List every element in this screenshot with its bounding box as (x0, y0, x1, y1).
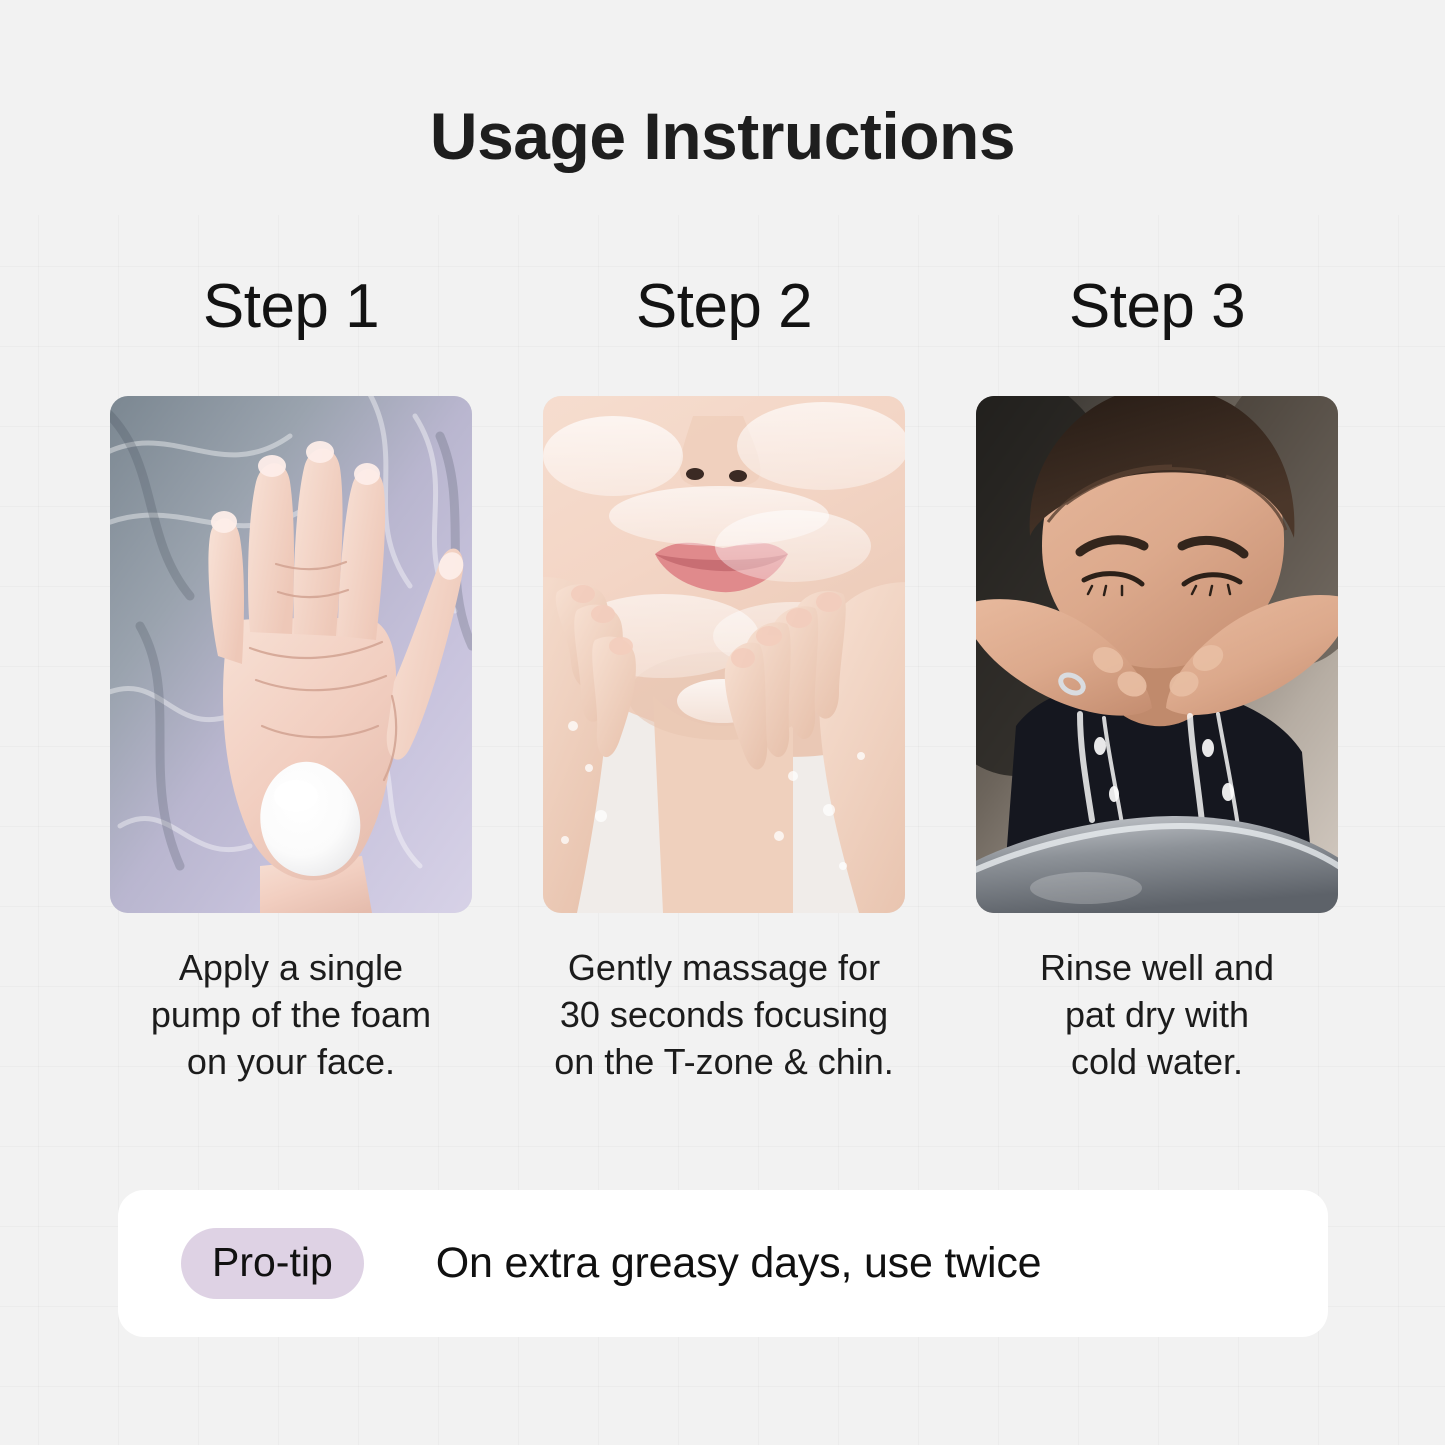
step-heading-1: Step 1 (203, 276, 379, 354)
step-caption-3: Rinse well and pat dry with cold water. (1040, 945, 1274, 1085)
step-card-1: Step 1 (110, 276, 472, 1085)
pro-tip-badge: Pro-tip (181, 1228, 364, 1299)
hand-with-foam-pump-photo (110, 396, 472, 913)
step-card-3: Step 3 (976, 276, 1338, 1085)
step-card-2: Step 2 (543, 276, 905, 1085)
usage-instructions-page: Usage Instructions Step 1 (0, 0, 1445, 1445)
page-title: Usage Instructions (0, 98, 1445, 174)
step-caption-1: Apply a single pump of the foam on your … (151, 945, 431, 1085)
massaging-foam-on-face-photo (543, 396, 905, 913)
steps-row: Step 1 (110, 276, 1338, 1085)
pro-tip-card: Pro-tip On extra greasy days, use twice (118, 1190, 1328, 1337)
step-heading-3: Step 3 (1069, 276, 1245, 354)
rinsing-face-with-water-photo (976, 396, 1338, 913)
step-caption-2: Gently massage for 30 seconds focusing o… (554, 945, 894, 1085)
pro-tip-text: On extra greasy days, use twice (436, 1242, 1042, 1285)
step-heading-2: Step 2 (636, 276, 812, 354)
